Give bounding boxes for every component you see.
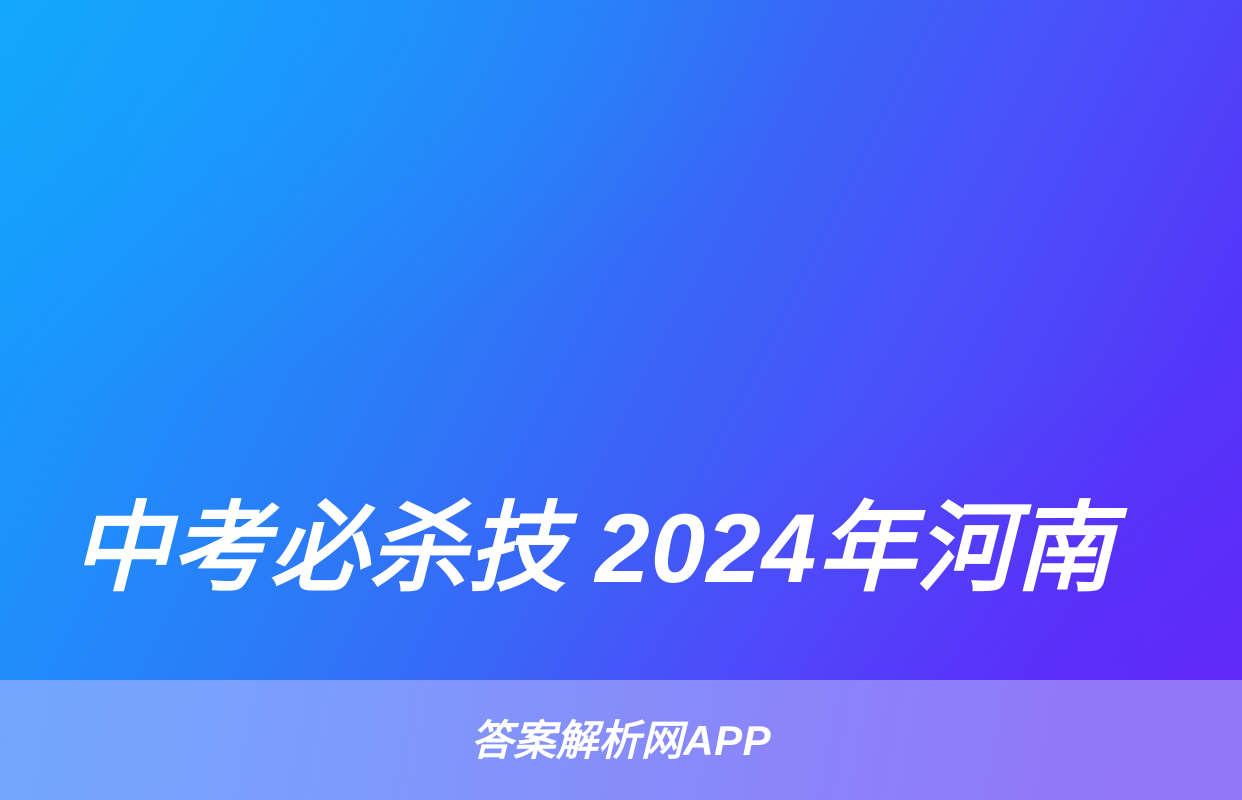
title-line-1: 中考必杀技 2024年河南 — [72, 474, 1170, 622]
poster-canvas: 中考必杀技 2024年河南 省普通高中招生考试试题 〔生物〕 答案解析网APP — [0, 0, 1242, 800]
footer-brand-band: 答案解析网APP — [0, 680, 1242, 800]
app-brand-label: 答案解析网APP — [471, 720, 771, 762]
